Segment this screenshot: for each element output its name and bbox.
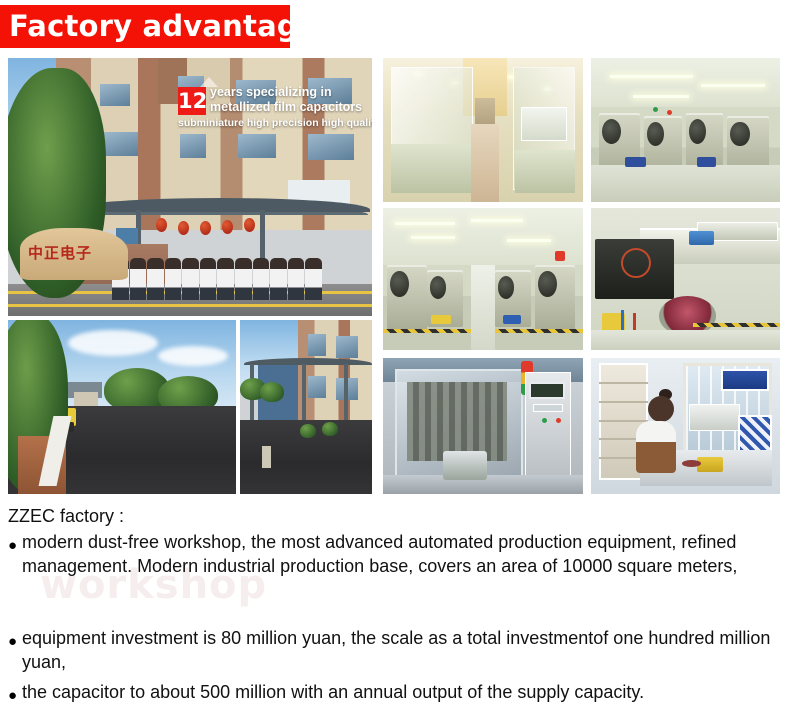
bullet-marker-icon: ● bbox=[8, 626, 22, 674]
overlay-years-number: 12 bbox=[178, 87, 206, 115]
description-text-block: workshop ZZEC factory : ● modern dust-fr… bbox=[0, 500, 790, 693]
photo-road-roller[interactable] bbox=[8, 320, 236, 494]
page-title: Factory advantage bbox=[0, 12, 318, 41]
overlay-line-3: subminiature high precision high quality bbox=[178, 117, 372, 129]
bullet-text-3: the capacitor to about 500 million with … bbox=[22, 680, 780, 704]
overlay-line-1: years specializing in bbox=[210, 85, 332, 99]
photo-qc-station[interactable] bbox=[591, 358, 780, 494]
photo-road-carport[interactable] bbox=[240, 320, 372, 494]
overlay-line-2: metallized film capacitors bbox=[210, 100, 362, 114]
staff-group bbox=[112, 258, 322, 300]
photo-factory-front[interactable]: 中正电子 12 years specializing in metallized… bbox=[8, 58, 372, 316]
stone-sign-text: 中正电子 bbox=[28, 242, 92, 263]
page-header-banner: Factory advantage bbox=[0, 5, 290, 48]
iqc-inspection-sign bbox=[721, 369, 768, 391]
photo-assembly-cell[interactable] bbox=[383, 358, 583, 494]
bullet-marker-icon: ● bbox=[8, 530, 22, 578]
bullet-item-3: ● the capacitor to about 500 million wit… bbox=[8, 680, 780, 704]
photo-collage: 中正电子 12 years specializing in metallized… bbox=[8, 58, 780, 494]
photo-office-corridor[interactable] bbox=[383, 58, 583, 202]
bullet-marker-icon: ● bbox=[8, 680, 22, 704]
bullet-text-1: modern dust-free workshop, the most adva… bbox=[22, 530, 780, 578]
bullet-text-2: equipment investment is 80 million yuan,… bbox=[22, 626, 780, 674]
photo-feeder-machine[interactable] bbox=[591, 208, 780, 350]
company-stone-sign: 中正电子 bbox=[20, 228, 128, 280]
body-heading: ZZEC factory : bbox=[8, 506, 124, 527]
bullet-item-2: ● equipment investment is 80 million yua… bbox=[8, 626, 780, 674]
bullet-item-1: ● modern dust-free workshop, the most ad… bbox=[8, 530, 780, 578]
photo-winding-hall[interactable] bbox=[591, 58, 780, 202]
photo-production-line[interactable] bbox=[383, 208, 583, 350]
